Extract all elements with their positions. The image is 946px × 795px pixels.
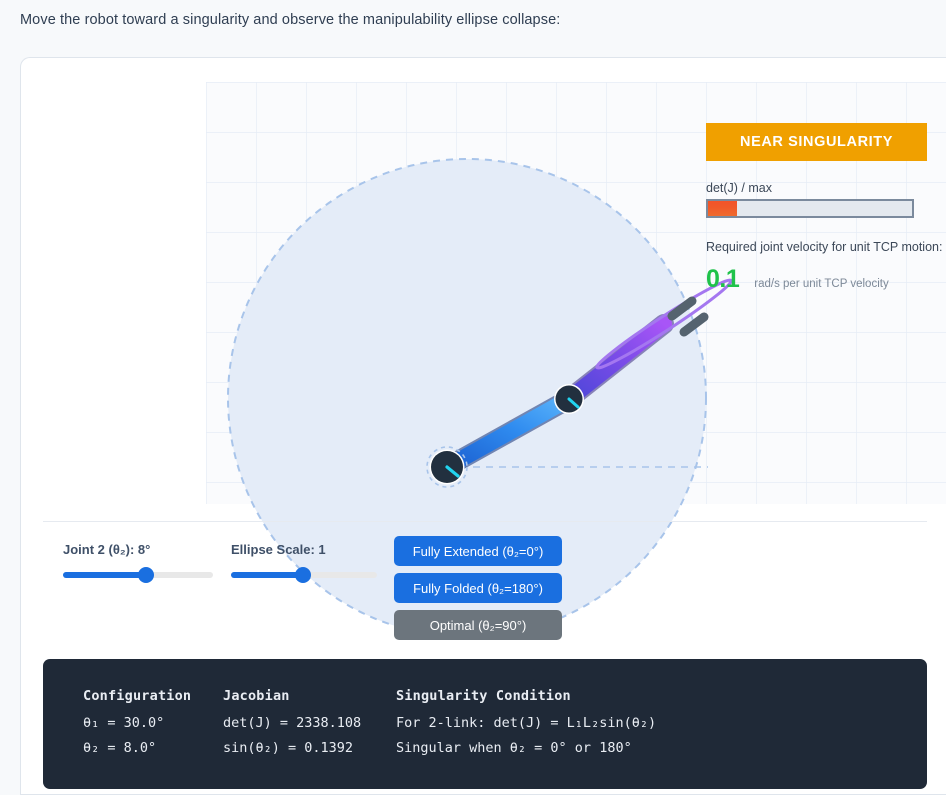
- joint2-slider-label: Joint 2 (θ₂): 8°: [63, 542, 213, 557]
- info-line: θ₂ = 8.0°: [83, 740, 191, 756]
- preset-button-0[interactable]: Fully Extended (θ₂=0°): [394, 536, 562, 566]
- velocity-unit: rad/s per unit TCP velocity: [754, 278, 888, 290]
- preset-button-2[interactable]: Optimal (θ₂=90°): [394, 610, 562, 640]
- ellipse-scale-slider-label: Ellipse Scale: 1: [231, 542, 377, 557]
- joint2-slider[interactable]: [63, 572, 213, 578]
- info-line: For 2-link: det(J) = L₁L₂sin(θ₂): [396, 715, 656, 731]
- info-line: sin(θ₂) = 0.1392: [223, 740, 361, 756]
- ellipse-scale-slider-thumb[interactable]: [295, 567, 311, 583]
- info-column-2: Singularity ConditionFor 2-link: det(J) …: [396, 688, 656, 765]
- info-column-heading: Configuration: [83, 688, 191, 704]
- preset-button-1[interactable]: Fully Folded (θ₂=180°): [394, 573, 562, 603]
- info-column-0: Configurationθ₁ = 30.0°θ₂ = 8.0°: [83, 688, 191, 765]
- page-title: Move the robot toward a singularity and …: [20, 12, 560, 28]
- info-line: θ₁ = 30.0°: [83, 715, 191, 731]
- det-ratio-label: det(J) / max: [706, 181, 946, 195]
- info-column-heading: Jacobian: [223, 688, 361, 704]
- status-badge: NEAR SINGULARITY: [706, 123, 927, 161]
- info-column-heading: Singularity Condition: [396, 688, 656, 704]
- preset-button-column: Fully Extended (θ₂=0°)Fully Folded (θ₂=1…: [394, 536, 562, 647]
- ellipse-scale-slider-group: Ellipse Scale: 1: [231, 542, 377, 578]
- status-panel: NEAR SINGULARITY det(J) / max Required j…: [706, 123, 946, 294]
- joint2-slider-thumb[interactable]: [138, 567, 154, 583]
- velocity-readout: 0.1 rad/s per unit TCP velocity: [706, 265, 946, 294]
- info-line: Singular when θ₂ = 0° or 180°: [396, 740, 656, 756]
- ellipse-scale-slider-fill: [231, 572, 303, 578]
- info-line: det(J) = 2338.108: [223, 715, 361, 731]
- ellipse-scale-slider[interactable]: [231, 572, 377, 578]
- info-panel: Configurationθ₁ = 30.0°θ₂ = 8.0°Jacobian…: [43, 659, 927, 789]
- velocity-value: 0.1: [706, 265, 739, 294]
- section-divider: [43, 521, 927, 522]
- simulation-card: NEAR SINGULARITY det(J) / max Required j…: [20, 57, 946, 795]
- page-root: Move the robot toward a singularity and …: [0, 0, 946, 795]
- joint2-slider-fill: [63, 572, 146, 578]
- det-ratio-progressbar: [706, 199, 914, 218]
- robot-canvas[interactable]: NEAR SINGULARITY det(J) / max Required j…: [206, 82, 946, 504]
- det-ratio-fill: [708, 201, 737, 216]
- required-velocity-label: Required joint velocity for unit TCP mot…: [706, 240, 946, 254]
- joint2-slider-group: Joint 2 (θ₂): 8°: [63, 542, 213, 578]
- info-column-1: Jacobiandet(J) = 2338.108sin(θ₂) = 0.139…: [223, 688, 361, 765]
